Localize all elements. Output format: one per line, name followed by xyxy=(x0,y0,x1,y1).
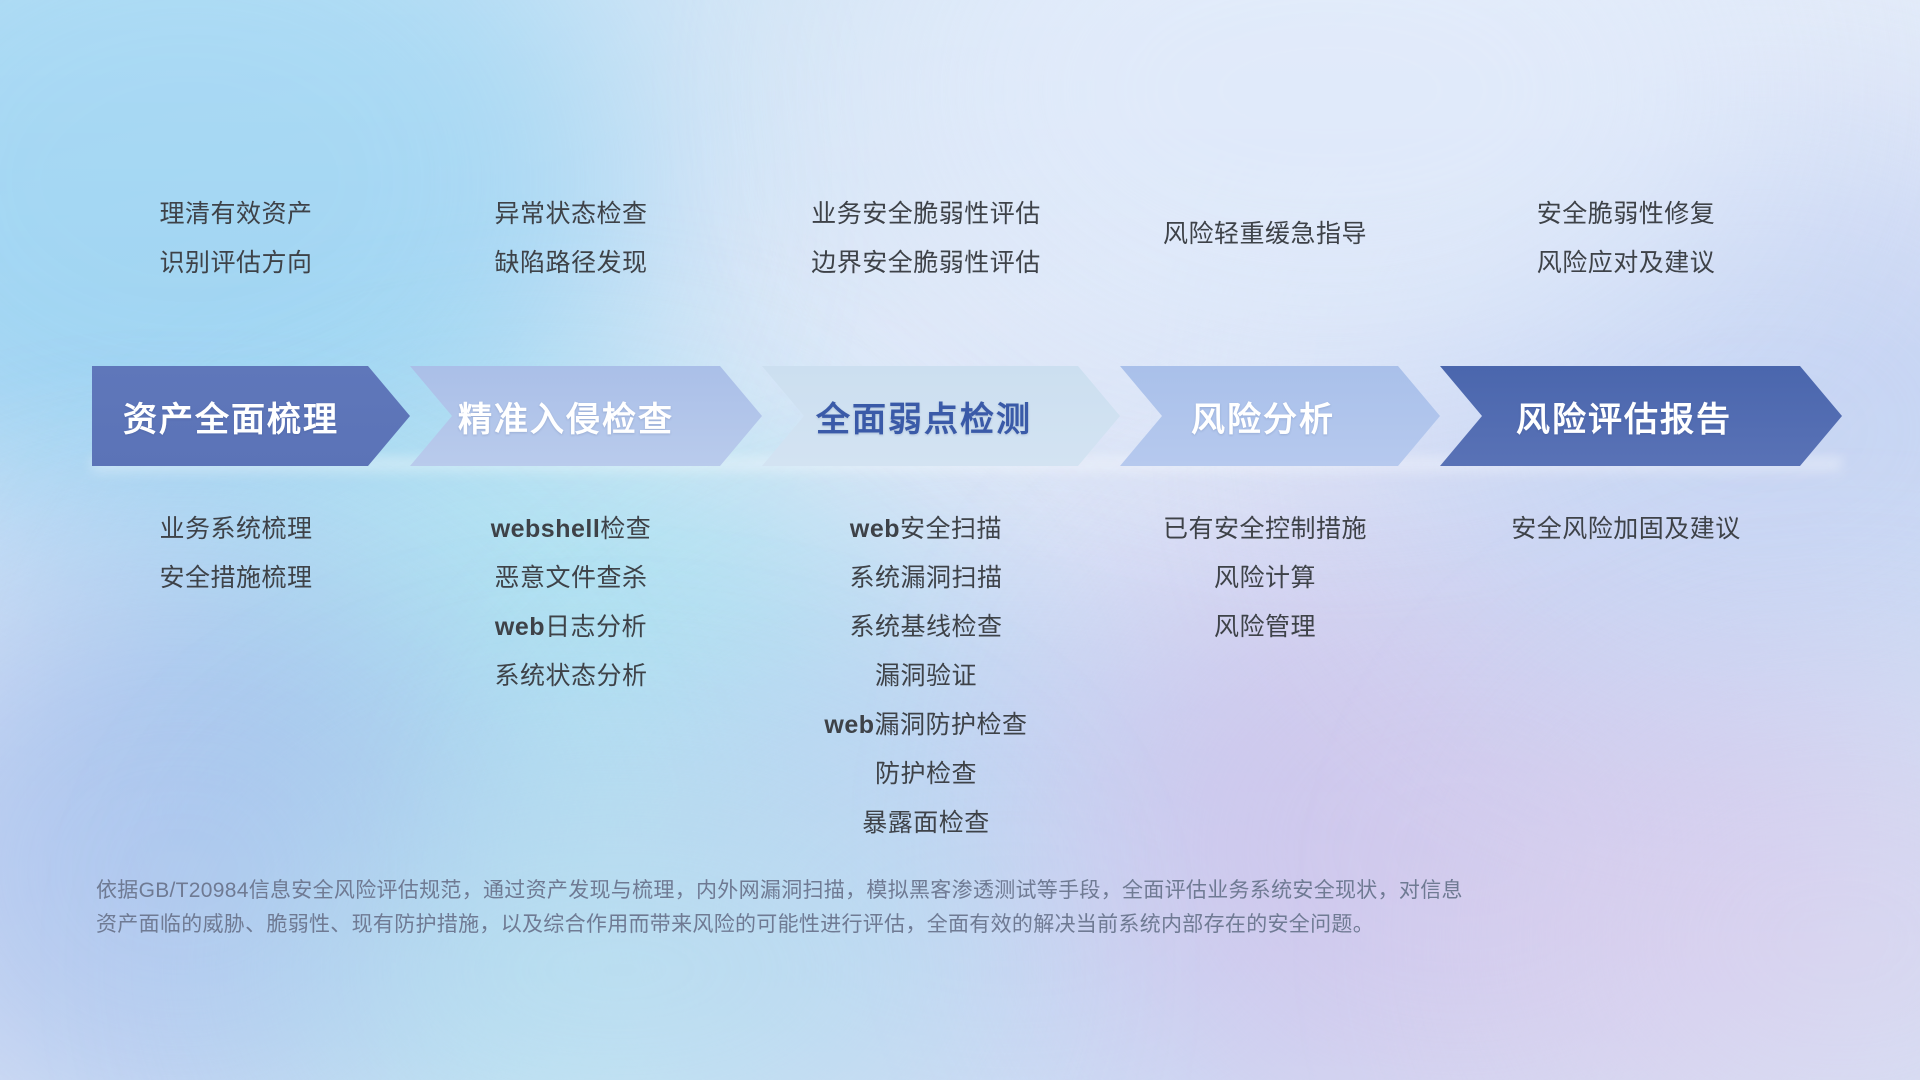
bottom-note-item: 风险计算 xyxy=(1045,554,1485,603)
stage-arrow-asset-inventory[interactable]: 资产全面梳理 xyxy=(92,366,410,466)
diagram-canvas: 理清有效资产识别评估方向异常状态检查缺陷路径发现业务安全脆弱性评估边界安全脆弱性… xyxy=(0,0,1920,1080)
note-tail-token: 安全扫描 xyxy=(900,515,1002,543)
bottom-note-item: 漏洞验证 xyxy=(706,652,1146,701)
stage-arrow-label: 精准入侵检查 xyxy=(458,392,714,441)
note-tail-token: 漏洞防护检查 xyxy=(875,711,1028,739)
stage-arrow-label: 风险评估报告 xyxy=(1516,392,1766,441)
note-lead-token: web xyxy=(824,711,874,739)
bottom-note-item: 安全风险加固及建议 xyxy=(1406,505,1846,554)
stage-arrow-label: 资产全面梳理 xyxy=(123,392,379,441)
top-note-item: 安全脆弱性修复 xyxy=(1406,190,1846,239)
top-notes-risk-report: 安全脆弱性修复风险应对及建议 xyxy=(1406,190,1846,288)
top-note-item: 风险应对及建议 xyxy=(1406,239,1846,288)
note-lead-token: web xyxy=(495,613,545,641)
stage-arrow-label: 全面弱点检测 xyxy=(816,392,1066,441)
stage-arrow-weakness-detection[interactable]: 全面弱点检测 xyxy=(762,366,1120,466)
bottom-note-item: 风险管理 xyxy=(1045,603,1485,652)
note-lead-token: webshell xyxy=(491,515,601,543)
note-tail-token: 日志分析 xyxy=(545,613,647,641)
bottom-notes-risk-report: 安全风险加固及建议 xyxy=(1406,505,1846,554)
footer-line-1: 依据GB/T20984信息安全风险评估规范，通过资产发现与梳理，内外网漏洞扫描，… xyxy=(96,874,1636,908)
stage-arrow-risk-report[interactable]: 风险评估报告 xyxy=(1440,366,1842,466)
note-lead-token: web xyxy=(850,515,900,543)
footer-description: 依据GB/T20984信息安全风险评估规范，通过资产发现与梳理，内外网漏洞扫描，… xyxy=(96,874,1636,942)
stage-arrow-risk-analysis[interactable]: 风险分析 xyxy=(1120,366,1440,466)
note-tail-token: 检查 xyxy=(600,515,651,543)
footer-line-2: 资产面临的威胁、脆弱性、现有防护措施，以及综合作用而带来风险的可能性进行评估，全… xyxy=(96,908,1636,942)
bottom-note-item: web漏洞防护检查 xyxy=(706,701,1146,750)
stage-arrow-intrusion-check[interactable]: 精准入侵检查 xyxy=(410,366,762,466)
bottom-note-item: 暴露面检查 xyxy=(706,799,1146,848)
bottom-note-item: 防护检查 xyxy=(706,750,1146,799)
stage-arrow-label: 风险分析 xyxy=(1191,392,1369,441)
process-arrow-band: 资产全面梳理精准入侵检查全面弱点检测风险分析风险评估报告 xyxy=(92,366,1842,466)
